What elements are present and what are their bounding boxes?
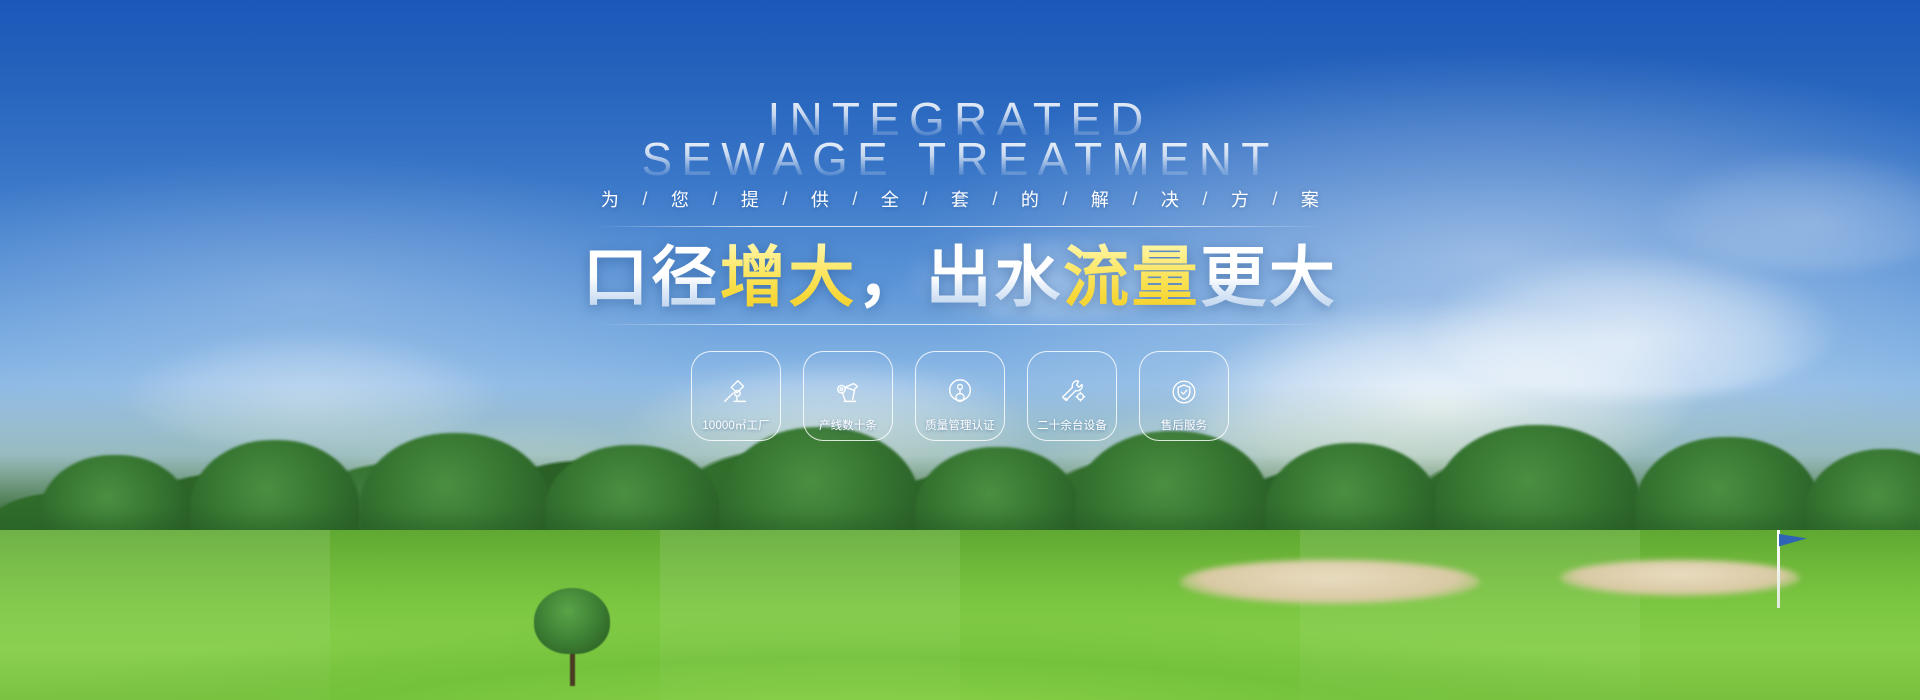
shield-check-icon	[1167, 375, 1201, 409]
headline-part-5: 更大	[1200, 243, 1337, 312]
feature-badge-certification[interactable]: 质量管理认证	[915, 351, 1005, 441]
tagline-char: 方	[1222, 186, 1258, 212]
feature-badge-label: 二十余台设备	[1037, 417, 1107, 433]
divider-top	[596, 226, 1324, 227]
feature-badge-factory[interactable]: 10000㎡工厂	[691, 351, 781, 441]
certification-person-icon	[943, 375, 977, 409]
tagline-char: 的	[1012, 186, 1048, 212]
feature-badge-label: 10000㎡工厂	[702, 417, 769, 433]
tagline-separator: /	[908, 189, 942, 210]
english-heading-group: INTEGRATED SEWAGE TREATMENT	[641, 96, 1278, 182]
feature-badge-label: 质量管理认证	[925, 417, 995, 433]
production-line-icon	[831, 375, 865, 409]
tagline-separator: /	[1118, 189, 1152, 210]
tagline-row: 为 / 您 / 提 / 供 / 全 / 套 / 的 / 解 / 决 / 方 / …	[592, 186, 1328, 212]
tagline-char: 提	[732, 186, 768, 212]
tagline-separator: /	[1048, 189, 1082, 210]
tagline-char: 为	[592, 186, 628, 212]
tagline-char: 套	[942, 186, 978, 212]
tagline-separator: /	[838, 189, 872, 210]
tagline-separator: /	[1258, 189, 1292, 210]
divider-bottom	[596, 324, 1324, 325]
feature-badge-after-sales[interactable]: 售后服务	[1139, 351, 1229, 441]
english-heading-line2: SEWAGE TREATMENT	[641, 136, 1278, 182]
wrench-tool-icon	[1055, 375, 1089, 409]
tagline-char: 解	[1082, 186, 1118, 212]
headline-part-3: 出水	[926, 243, 1063, 312]
hero-banner: INTEGRATED SEWAGE TREATMENT 为 / 您 / 提 / …	[0, 0, 1920, 700]
feature-badge-equipment[interactable]: 二十余台设备	[1027, 351, 1117, 441]
tagline-separator: /	[768, 189, 802, 210]
feature-badge-row: 10000㎡工厂 产线数十条	[691, 351, 1229, 441]
feature-badge-label: 售后服务	[1161, 417, 1207, 433]
headline: 口径 增大 ， 出水 流量 更大	[582, 243, 1337, 312]
microscope-icon	[719, 375, 753, 409]
headline-part-1: 口径	[582, 243, 719, 312]
headline-part-2: 增大	[720, 243, 857, 312]
tagline-separator: /	[978, 189, 1012, 210]
headline-part-4: 流量	[1063, 243, 1200, 312]
tagline-separator: /	[628, 189, 662, 210]
tagline-char: 决	[1152, 186, 1188, 212]
feature-badge-production-line[interactable]: 产线数十条	[803, 351, 893, 441]
tagline-separator: /	[1188, 189, 1222, 210]
banner-content: INTEGRATED SEWAGE TREATMENT 为 / 您 / 提 / …	[0, 0, 1920, 700]
tagline-char: 供	[802, 186, 838, 212]
tagline-separator: /	[698, 189, 732, 210]
feature-badge-label: 产线数十条	[819, 417, 877, 433]
headline-comma: ，	[857, 243, 926, 312]
tagline-char: 案	[1292, 186, 1328, 212]
tagline-char: 您	[662, 186, 698, 212]
tagline-char: 全	[872, 186, 908, 212]
